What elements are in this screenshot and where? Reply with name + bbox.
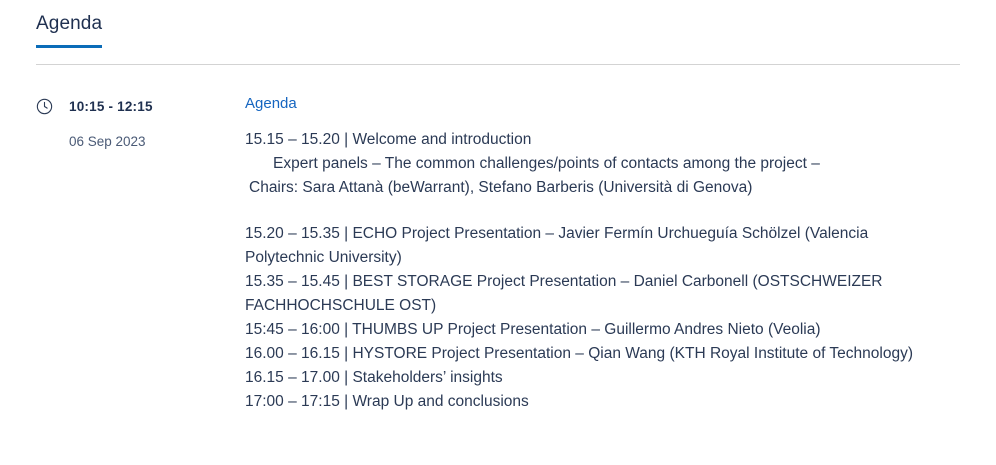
header-divider bbox=[36, 64, 960, 65]
agenda-body: Agenda 15.15 – 15.20 | Welcome and intro… bbox=[245, 94, 960, 414]
tab-bar: Agenda bbox=[36, 12, 102, 48]
event-time-row: 10:15 - 12:15 bbox=[36, 96, 245, 116]
agenda-line: 15.15 – 15.20 | Welcome and introduction bbox=[245, 128, 939, 152]
agenda-line: Expert panels – The common challenges/po… bbox=[245, 152, 939, 176]
event-time: 10:15 - 12:15 bbox=[69, 99, 153, 114]
tab-agenda[interactable]: Agenda bbox=[36, 12, 102, 48]
agenda-link[interactable]: Agenda bbox=[245, 94, 297, 114]
agenda-block: 15.15 – 15.20 | Welcome and introduction… bbox=[245, 128, 939, 200]
agenda-line: 15.20 – 15.35 | ECHO Project Presentatio… bbox=[245, 222, 939, 270]
agenda-event-row: 10:15 - 12:15 06 Sep 2023 Agenda 15.15 –… bbox=[36, 94, 960, 414]
agenda-block: 15.20 – 15.35 | ECHO Project Presentatio… bbox=[245, 222, 939, 414]
event-meta: 10:15 - 12:15 06 Sep 2023 bbox=[36, 94, 245, 149]
agenda-line: 16.15 – 17.00 | Stakeholders’ insights bbox=[245, 366, 939, 390]
agenda-line: 15:45 – 16:00 | THUMBS UP Project Presen… bbox=[245, 318, 939, 342]
agenda-line: 16.00 – 16.15 | HYSTORE Project Presenta… bbox=[245, 342, 939, 366]
agenda-line: 15.35 – 15.45 | BEST STORAGE Project Pre… bbox=[245, 270, 939, 318]
agenda-line: Chairs: Sara Attanà (beWarrant), Stefano… bbox=[245, 176, 939, 200]
agenda-line: 17:00 – 17:15 | Wrap Up and conclusions bbox=[245, 390, 939, 414]
clock-icon bbox=[36, 98, 53, 115]
event-date: 06 Sep 2023 bbox=[69, 134, 245, 149]
